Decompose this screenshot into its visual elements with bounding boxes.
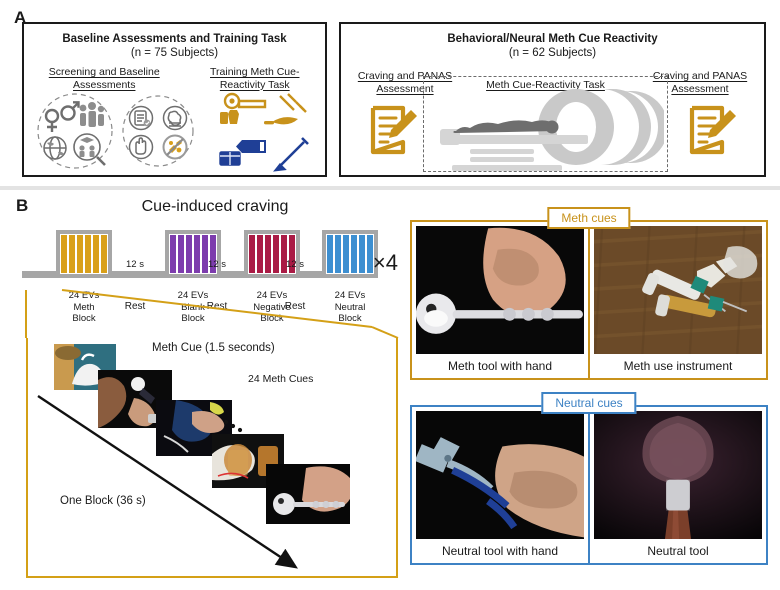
screening-column-label: Screening and Baseline Assessments bbox=[29, 66, 179, 91]
neutral-cue-caption-2: Neutral tool bbox=[590, 540, 766, 563]
block-word-neutral: Block bbox=[338, 313, 361, 324]
block-evs-blank: 24 EVs bbox=[178, 290, 209, 301]
ev-bar bbox=[170, 235, 176, 273]
ev-bar bbox=[77, 235, 83, 273]
panel-b-letter: B bbox=[16, 196, 28, 216]
meth-cue-reactivity-task-region: Meth Cue-Reactivity Task bbox=[423, 76, 668, 172]
rest-label-2: Rest bbox=[198, 301, 236, 312]
syringes-and-crystals-photo bbox=[594, 226, 762, 354]
ev-bar bbox=[85, 235, 91, 273]
meth-cue-caption-1: Meth tool with hand bbox=[412, 355, 588, 378]
cue-count-label: 24 Meth Cues bbox=[248, 373, 313, 385]
training-cue-icons bbox=[214, 88, 322, 172]
ev-bar bbox=[265, 235, 271, 273]
ev-bar bbox=[359, 235, 365, 273]
block-duration-arrow bbox=[32, 390, 332, 590]
block-evs-neutral: 24 EVs bbox=[335, 290, 366, 301]
neutral-cues-panel: Neutral cues bbox=[410, 405, 768, 565]
repeat-label: ×4 bbox=[373, 250, 398, 276]
block-word-negative: Block bbox=[260, 313, 283, 324]
block-evs-meth: 24 EVs bbox=[69, 290, 100, 301]
block-label-meth: 24 EVs Meth Block bbox=[53, 290, 115, 325]
block-label-neutral: 24 EVs Neutral Block bbox=[319, 290, 381, 325]
block-word-meth: Block bbox=[72, 313, 95, 324]
panel-a-left-box: Baseline Assessments and Training Task (… bbox=[22, 22, 327, 177]
mri-scanner-icon bbox=[426, 83, 664, 171]
document-pencil-icon-right bbox=[686, 102, 738, 158]
neutral-cues-tab: Neutral cues bbox=[541, 392, 636, 414]
screening-column: Screening and Baseline Assessments bbox=[29, 66, 179, 91]
ev-bar bbox=[186, 235, 192, 273]
cue-thumbnail-cascade bbox=[26, 338, 426, 588]
rest-duration-1: 12 s bbox=[118, 259, 152, 270]
ev-bar bbox=[69, 235, 75, 273]
rest-duration-2: 12 s bbox=[200, 259, 234, 270]
block-evs-negative: 24 EVs bbox=[257, 290, 288, 301]
panel-a: A Baseline Assessments and Training Task… bbox=[0, 0, 780, 186]
ev-bar bbox=[257, 235, 263, 273]
ellipsis-dots-icon bbox=[222, 418, 248, 434]
document-pencil-icon-left bbox=[367, 102, 419, 158]
pliers-in-hand-photo bbox=[416, 411, 584, 539]
block-name-meth: Meth bbox=[73, 302, 94, 313]
meth-cues-panel: Meth cues bbox=[410, 220, 768, 380]
cue-duration-label: Meth Cue (1.5 seconds) bbox=[152, 342, 275, 354]
meth-cue-cell-1: Meth tool with hand bbox=[410, 220, 590, 380]
rest-label-3: Rest bbox=[276, 301, 314, 312]
rest-duration-3: 12 s bbox=[278, 259, 312, 270]
ev-bar bbox=[61, 235, 67, 273]
panel-a-left-title: Baseline Assessments and Training Task bbox=[24, 24, 325, 46]
block-labels: 24 EVs Meth Block 24 EVs Blank Block 24 … bbox=[22, 290, 392, 334]
block-timeline: 12 s 12 s 12 s ×4 bbox=[22, 226, 392, 296]
neutral-cue-caption-1: Neutral tool with hand bbox=[412, 540, 588, 563]
block-duration-label: One Block (36 s) bbox=[60, 495, 146, 507]
panel-a-right-title: Behavioral/Neural Meth Cue Reactivity bbox=[341, 24, 764, 46]
block-name-neutral: Neutral bbox=[335, 302, 366, 313]
block-neutral bbox=[322, 230, 378, 278]
ev-bar bbox=[351, 235, 357, 273]
block-negative bbox=[244, 230, 300, 278]
ev-bar bbox=[335, 235, 341, 273]
meth-cues-tab: Meth cues bbox=[547, 207, 630, 229]
assessment-circles-icon bbox=[30, 90, 206, 172]
panel-a-right-subtitle: (n = 62 Subjects) bbox=[341, 46, 764, 60]
ev-bar bbox=[249, 235, 255, 273]
meth-pipe-in-hand-photo bbox=[416, 226, 584, 354]
ev-bar bbox=[178, 235, 184, 273]
figure-root: A Baseline Assessments and Training Task… bbox=[0, 0, 780, 586]
ev-bar bbox=[101, 235, 107, 273]
meth-cue-cell-2: Meth use instrument bbox=[590, 220, 768, 380]
neutral-cue-cell-1: Neutral tool with hand bbox=[410, 405, 590, 565]
meth-cue-caption-2: Meth use instrument bbox=[590, 355, 766, 378]
ev-bar bbox=[327, 235, 333, 273]
panel-a-left-subtitle: (n = 75 Subjects) bbox=[24, 46, 325, 60]
rest-label-1: Rest bbox=[116, 301, 154, 312]
panel-a-right-box: Behavioral/Neural Meth Cue Reactivity (n… bbox=[339, 22, 766, 177]
panel-b: B Cue-induced craving 12 s 12 s 12 s ×4 bbox=[0, 190, 780, 586]
block-meth bbox=[56, 230, 112, 278]
panel-b-title: Cue-induced craving bbox=[70, 198, 360, 216]
makeup-brush-photo bbox=[594, 411, 762, 539]
neutral-cue-cell-2: Neutral tool bbox=[590, 405, 768, 565]
ev-bar bbox=[93, 235, 99, 273]
block-blank bbox=[165, 230, 221, 278]
ev-bar bbox=[343, 235, 349, 273]
block-word-blank: Block bbox=[181, 313, 204, 324]
